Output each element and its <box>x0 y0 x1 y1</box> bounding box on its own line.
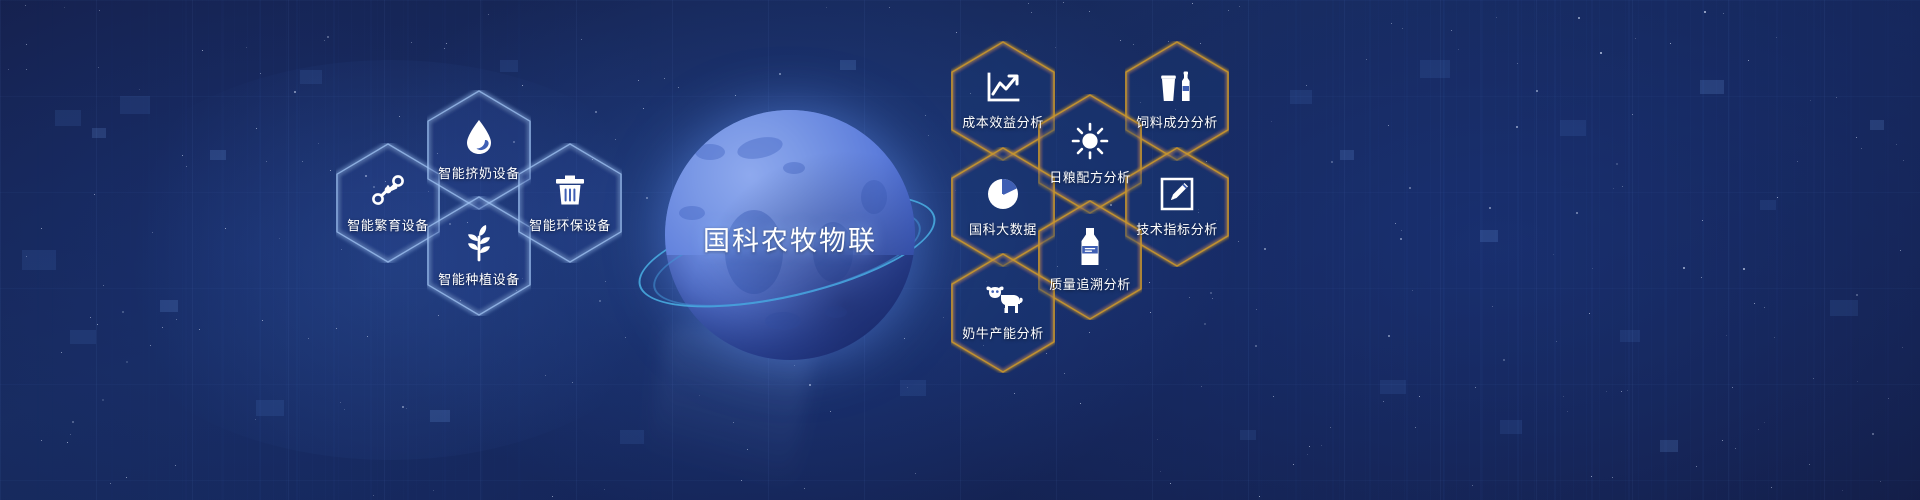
background-star <box>1064 373 1065 374</box>
background-star <box>1028 3 1029 4</box>
background-star <box>340 402 341 403</box>
background-star <box>1842 490 1843 491</box>
background-star <box>1189 297 1190 298</box>
page-title: 国科农牧物联 <box>640 95 940 395</box>
background-star <box>1458 49 1459 50</box>
background-star <box>1273 396 1274 397</box>
background-star <box>1259 496 1260 497</box>
background-star <box>545 375 546 376</box>
background-star <box>1627 390 1628 391</box>
background-block <box>500 60 518 72</box>
background-block <box>1380 380 1406 394</box>
background-star <box>1902 347 1903 348</box>
background-star <box>1120 40 1121 41</box>
background-star <box>110 483 111 484</box>
background-star <box>1401 230 1402 231</box>
background-star <box>1567 411 1568 412</box>
background-star <box>1589 313 1590 314</box>
background-star <box>595 111 597 113</box>
background-star <box>1388 335 1390 337</box>
background-block <box>210 150 226 160</box>
background-star <box>1735 448 1736 449</box>
background-star <box>1903 160 1904 161</box>
background-star <box>1616 163 1618 165</box>
background-star <box>830 411 831 412</box>
background-star <box>1031 12 1032 13</box>
hero-banner: 国科农牧物联 智能繁育设备 智能挤奶设备 <box>0 0 1920 500</box>
background-star <box>1578 17 1580 19</box>
background-star <box>126 361 128 363</box>
background-block <box>1560 120 1586 136</box>
background-star <box>599 300 601 302</box>
background-star <box>94 194 95 195</box>
background-star <box>256 128 257 129</box>
background-star <box>605 281 606 282</box>
background-star <box>915 473 916 474</box>
hex-content: 奶牛产能分析 <box>951 253 1055 373</box>
background-star <box>41 440 42 441</box>
background-star <box>1896 144 1897 145</box>
background-star <box>1600 52 1602 54</box>
background-star <box>1670 43 1671 44</box>
background-star <box>1888 398 1889 399</box>
background-star <box>1204 323 1206 325</box>
background-star <box>1080 403 1081 404</box>
hex-item-plant-sprout[interactable]: 智能种植设备 <box>427 196 531 316</box>
background-star <box>1856 137 1857 138</box>
cow-icon <box>982 284 1024 316</box>
background-star <box>1771 487 1772 488</box>
background-star <box>1857 381 1858 382</box>
background-star <box>1704 11 1706 13</box>
hex-item-water-droplet[interactable]: 智能挤奶设备 <box>427 90 531 210</box>
hex-label: 饲料成分分析 <box>1136 112 1218 131</box>
background-star <box>943 317 944 318</box>
background-star <box>90 317 91 318</box>
background-star <box>1880 481 1881 482</box>
background-star <box>152 232 153 233</box>
background-star <box>1563 396 1564 397</box>
background-star <box>1212 298 1213 299</box>
background-star <box>889 7 890 8</box>
background-block <box>1760 200 1776 210</box>
background-star <box>446 43 447 44</box>
hex-label: 奶牛产能分析 <box>962 323 1044 342</box>
feed-bottle-icon <box>1158 71 1196 105</box>
background-star <box>1170 483 1171 484</box>
background-star <box>826 7 827 8</box>
plant-sprout-icon <box>461 224 497 262</box>
background-block <box>120 96 150 114</box>
background-star <box>1160 471 1161 472</box>
background-star <box>1264 248 1266 250</box>
background-star <box>1576 212 1578 214</box>
background-star <box>1836 97 1837 98</box>
background-star <box>70 434 71 435</box>
background-star <box>1402 28 1403 29</box>
background-star <box>638 80 639 81</box>
background-star <box>1723 13 1724 14</box>
background-star <box>1330 427 1331 428</box>
background-block <box>160 300 178 312</box>
background-star <box>1777 197 1778 198</box>
background-block <box>1870 120 1884 130</box>
background-star <box>1856 294 1858 296</box>
background-star <box>1149 282 1150 283</box>
hex-content: 智能繁育设备 <box>336 143 440 263</box>
background-star <box>1255 345 1257 347</box>
background-star <box>139 89 140 90</box>
background-star <box>733 422 734 423</box>
background-star <box>1210 292 1212 294</box>
background-star <box>1776 37 1777 38</box>
background-star <box>373 495 374 496</box>
background-star <box>162 327 163 328</box>
background-star <box>1201 386 1202 387</box>
background-star <box>402 406 404 408</box>
background-star <box>804 488 805 489</box>
hex-label: 智能环保设备 <box>529 215 611 234</box>
background-star <box>1409 187 1411 189</box>
hex-label: 智能挤奶设备 <box>438 163 520 182</box>
background-star <box>199 329 200 330</box>
background-star <box>1256 309 1257 310</box>
background-star <box>1391 23 1392 24</box>
background-star <box>103 285 104 286</box>
background-star <box>1754 303 1755 304</box>
hex-label: 成本效益分析 <box>962 112 1044 131</box>
background-star <box>678 87 679 88</box>
background-star <box>1239 6 1240 7</box>
background-star <box>1635 38 1636 39</box>
background-star <box>99 10 100 11</box>
background-star <box>98 67 99 68</box>
background-star <box>1517 63 1518 64</box>
background-star <box>399 116 400 117</box>
background-star <box>72 421 74 423</box>
background-star <box>1632 114 1633 115</box>
background-star <box>26 69 27 70</box>
background-star <box>604 489 605 490</box>
background-star <box>1516 126 1518 128</box>
background-block <box>1620 330 1640 342</box>
background-star <box>1612 477 1613 478</box>
background-star <box>1813 378 1814 379</box>
background-block <box>1660 440 1678 452</box>
background-star <box>1702 220 1703 221</box>
background-star <box>1309 446 1310 447</box>
background-star <box>102 399 104 401</box>
background-star <box>225 228 226 229</box>
background-star <box>411 42 412 43</box>
background-star <box>279 238 280 239</box>
background-star <box>1536 90 1538 92</box>
background-star <box>336 328 337 329</box>
background-block <box>620 430 644 444</box>
background-block <box>1340 150 1354 160</box>
background-star <box>266 161 267 162</box>
background-star <box>747 449 748 450</box>
background-star <box>444 48 445 49</box>
background-star <box>1764 422 1765 423</box>
background-star <box>1475 387 1476 388</box>
background-star <box>1872 433 1874 435</box>
background-star <box>25 5 26 6</box>
background-block <box>22 250 56 270</box>
background-star <box>1696 466 1697 467</box>
background-star <box>182 155 183 156</box>
background-star <box>1743 268 1745 270</box>
background-star <box>302 161 303 162</box>
background-star <box>406 408 407 409</box>
line-chart-icon <box>985 71 1021 105</box>
background-star <box>1089 332 1090 333</box>
background-star <box>1622 186 1623 187</box>
background-star <box>1613 188 1614 189</box>
background-star <box>1238 241 1239 242</box>
background-star <box>1489 207 1491 209</box>
background-star <box>260 73 261 74</box>
background-star <box>1621 391 1622 392</box>
hex-item-cow[interactable]: 奶牛产能分析 <box>951 253 1055 373</box>
background-star <box>433 490 434 491</box>
background-star <box>1732 387 1733 388</box>
background-star <box>1150 312 1151 313</box>
background-star <box>1055 47 1056 48</box>
background-star <box>615 139 616 140</box>
background-block <box>1700 80 1724 94</box>
background-star <box>67 442 68 443</box>
background-star <box>1496 17 1497 18</box>
hex-item-recycle-bin[interactable]: 智能环保设备 <box>518 143 622 263</box>
background-star <box>572 382 573 383</box>
background-star <box>625 337 626 338</box>
background-star <box>26 256 27 257</box>
background-star <box>956 32 957 33</box>
hex-content: 智能环保设备 <box>518 143 622 263</box>
background-star <box>1306 85 1307 86</box>
background-star <box>1293 464 1294 465</box>
background-star <box>1412 290 1413 291</box>
milk-bottle-icon <box>1076 227 1104 267</box>
background-block <box>300 70 322 84</box>
background-star <box>330 170 331 171</box>
background-star <box>64 7 65 8</box>
background-star <box>367 336 368 337</box>
background-star <box>1271 121 1272 122</box>
hex-content: 智能种植设备 <box>427 196 531 316</box>
hex-label: 技术指标分析 <box>1136 219 1218 238</box>
background-star <box>246 47 247 48</box>
background-block <box>430 410 450 422</box>
background-star <box>327 36 329 38</box>
background-block <box>840 60 856 70</box>
background-star <box>1592 268 1593 269</box>
background-block <box>1480 230 1498 242</box>
recycle-bin-icon <box>553 172 587 208</box>
background-star <box>1388 125 1389 126</box>
background-star <box>1331 161 1333 163</box>
background-block <box>1290 90 1312 104</box>
background-star <box>186 166 187 167</box>
background-star <box>150 345 151 346</box>
background-star <box>488 14 489 15</box>
background-star <box>1748 60 1749 61</box>
hex-label: 质量追溯分析 <box>1049 274 1131 293</box>
background-block <box>1500 420 1522 434</box>
background-block <box>256 400 284 416</box>
background-star <box>1503 359 1505 361</box>
background-star <box>1606 391 1607 392</box>
network-node-icon <box>370 172 406 208</box>
background-star <box>1553 254 1554 255</box>
background-star <box>1764 307 1765 308</box>
background-star <box>97 324 98 325</box>
background-star <box>8 69 9 70</box>
background-star <box>1089 11 1090 12</box>
background-star <box>779 73 781 75</box>
background-star <box>522 85 523 86</box>
background-block <box>92 128 106 138</box>
edit-pen-icon <box>1159 176 1195 212</box>
background-star <box>1591 476 1592 477</box>
background-star <box>1366 59 1367 60</box>
background-star <box>741 480 742 481</box>
background-star <box>1063 2 1064 3</box>
background-star <box>1701 277 1702 278</box>
background-block <box>70 330 96 344</box>
background-star <box>1774 337 1775 338</box>
background-star <box>308 338 309 339</box>
background-star <box>324 40 325 41</box>
background-star <box>1492 306 1493 307</box>
background-star <box>1228 10 1229 11</box>
background-star <box>262 320 263 321</box>
hex-item-network-node[interactable]: 智能繁育设备 <box>336 143 440 263</box>
background-star <box>1809 464 1810 465</box>
background-star <box>1451 30 1452 31</box>
background-block <box>55 110 81 126</box>
background-star <box>1192 3 1193 4</box>
background-star <box>41 228 42 229</box>
background-star <box>1810 100 1811 101</box>
background-star <box>26 44 27 45</box>
background-star <box>176 319 177 320</box>
background-star <box>1861 148 1862 149</box>
hex-label: 智能种植设备 <box>438 269 520 288</box>
background-block <box>1830 300 1858 316</box>
background-star <box>202 50 203 51</box>
planet-group: 国科农牧物联 <box>640 95 940 395</box>
background-star <box>1307 454 1308 455</box>
background-star <box>1014 393 1015 394</box>
background-star <box>122 311 124 313</box>
background-star <box>61 352 62 353</box>
background-block <box>1240 430 1256 440</box>
background-star <box>1683 267 1685 269</box>
background-star <box>175 465 176 466</box>
background-star <box>1726 335 1727 336</box>
background-star <box>1419 396 1420 397</box>
background-star <box>664 78 665 79</box>
background-star <box>1722 440 1723 441</box>
background-block <box>1420 60 1450 78</box>
background-star <box>552 496 553 497</box>
background-star <box>255 419 256 420</box>
background-star <box>1797 161 1798 162</box>
background-star <box>1556 341 1557 342</box>
hex-label: 日粮配方分析 <box>1049 167 1131 186</box>
background-star <box>1758 429 1759 430</box>
background-star <box>344 409 345 410</box>
background-star <box>1383 401 1384 402</box>
pie-chart-icon <box>985 176 1021 212</box>
background-star <box>1415 427 1416 428</box>
background-star <box>126 477 127 478</box>
background-star <box>1400 238 1402 240</box>
hex-content: 智能挤奶设备 <box>427 90 531 210</box>
hex-label: 国科大数据 <box>969 219 1037 238</box>
hex-label: 智能繁育设备 <box>347 215 429 234</box>
background-star <box>294 91 296 93</box>
water-droplet-icon <box>462 118 496 156</box>
background-star <box>318 143 319 144</box>
background-star <box>1321 445 1322 446</box>
sun-formula-icon <box>1071 122 1109 160</box>
background-star <box>1900 250 1901 251</box>
background-star <box>1472 485 1473 486</box>
background-star <box>1157 439 1158 440</box>
background-star <box>581 39 582 40</box>
background-star <box>1395 223 1396 224</box>
